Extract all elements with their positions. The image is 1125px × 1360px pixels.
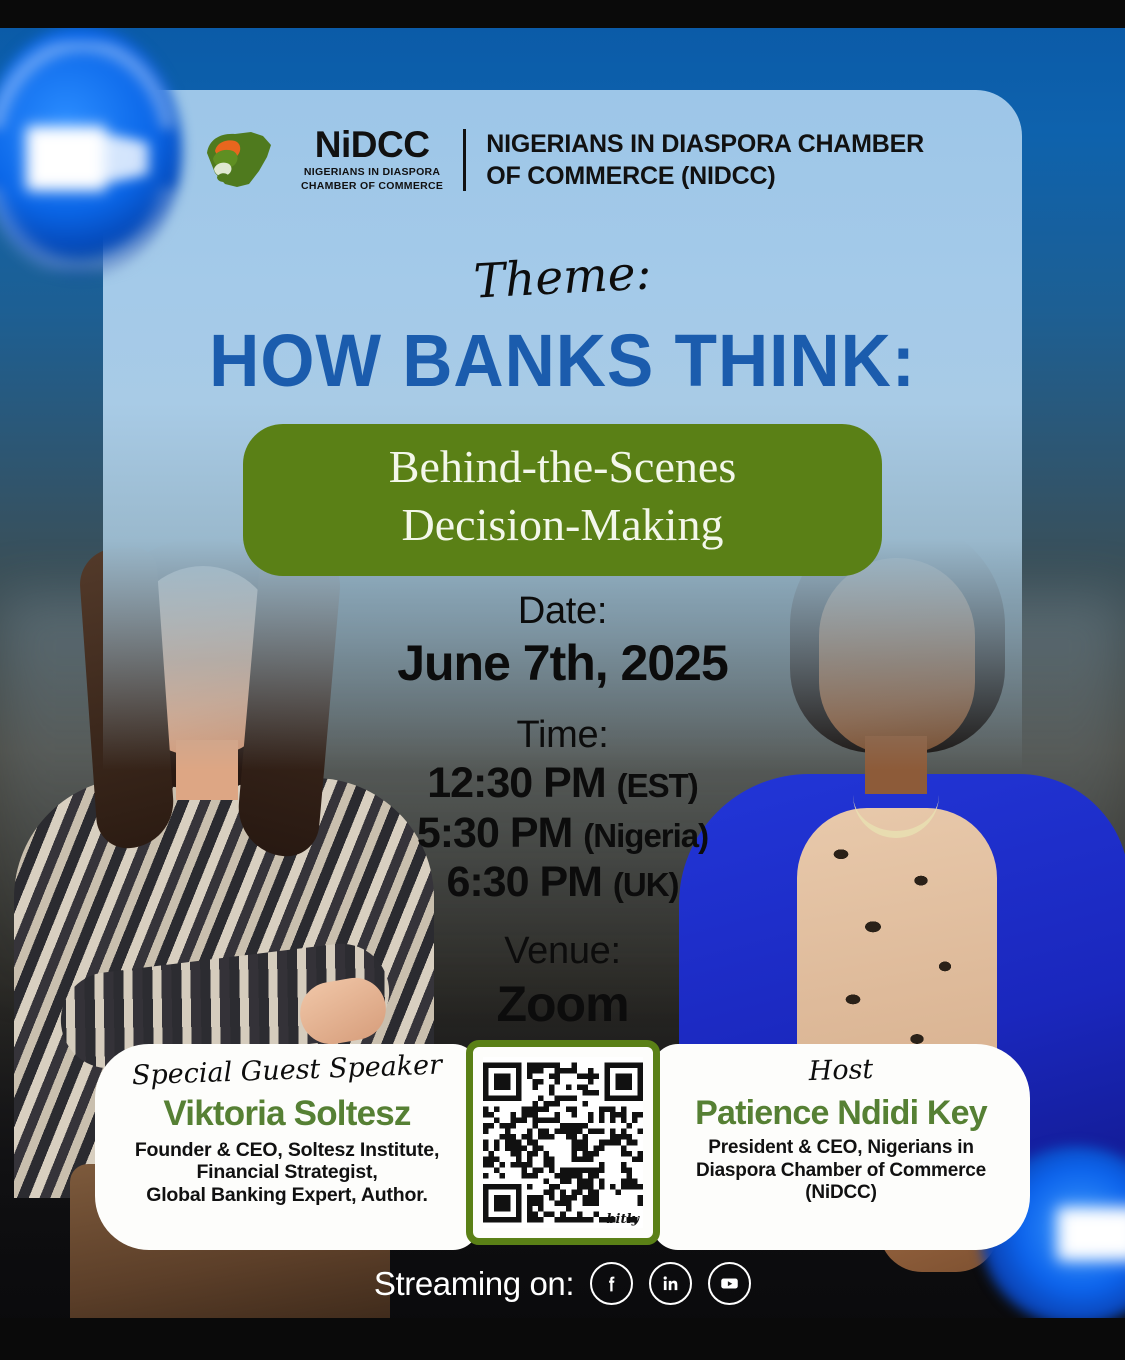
brand-wordmark: NiDCC NIGERIANS IN DIASPORA CHAMBER OF C… xyxy=(301,126,443,193)
speaker-card: Special Guest Speaker Viktoria Soltesz F… xyxy=(95,1044,479,1250)
linkedin-icon[interactable] xyxy=(649,1262,692,1305)
host-role-label: Host xyxy=(668,1050,1015,1092)
qr-watermark: bitly xyxy=(606,1212,639,1227)
theme-subtitle-pill: Behind-the-Scenes Decision-Making xyxy=(243,424,882,576)
streaming-footer: Streaming on: xyxy=(0,1262,1125,1305)
time-est: 12:30 PM (EST) xyxy=(0,759,1125,809)
date-value: June 7th, 2025 xyxy=(0,634,1125,692)
event-flyer: NiDCC NIGERIANS IN DIASPORA CHAMBER OF C… xyxy=(0,0,1125,1360)
brand-tagline: NIGERIANS IN DIASPORA CHAMBER OF COMMERC… xyxy=(301,166,443,193)
brand-header: NiDCC NIGERIANS IN DIASPORA CHAMBER OF C… xyxy=(0,126,1125,193)
facebook-icon[interactable] xyxy=(590,1262,633,1305)
brand-nidcc-text: NiDCC xyxy=(315,126,430,163)
host-credentials: President & CEO, Nigerians in Diaspora C… xyxy=(668,1137,1014,1203)
date-label: Date: xyxy=(0,588,1125,634)
streaming-label: Streaming on: xyxy=(374,1265,574,1303)
speaker-role-label: Special Guest Speaker xyxy=(113,1050,462,1092)
venue-value: Zoom xyxy=(0,975,1125,1033)
speaker-name: Viktoria Soltesz xyxy=(113,1093,461,1135)
event-details: Date: June 7th, 2025 Time: 12:30 PM (EST… xyxy=(0,588,1125,1093)
speaker-credentials: Founder & CEO, Soltesz Institute, Financ… xyxy=(113,1139,461,1207)
qr-code[interactable]: bitly xyxy=(466,1040,660,1245)
time-uk: 6:30 PM (UK) xyxy=(0,858,1125,908)
time-label: Time: xyxy=(0,712,1125,758)
nigeria-map-logo-icon xyxy=(201,127,281,193)
header-divider xyxy=(463,129,466,191)
theme-subtitle-line1: Behind-the-Scenes xyxy=(271,438,854,496)
header-title: NIGERIANS IN DIASPORA CHAMBER OF COMMERC… xyxy=(486,128,924,192)
host-card: Host Patience Ndidi Key President & CEO,… xyxy=(652,1044,1030,1250)
top-letterbox-bar xyxy=(0,0,1125,28)
host-name: Patience Ndidi Key xyxy=(668,1093,1014,1134)
theme-subtitle-line2: Decision-Making xyxy=(271,496,854,554)
time-nigeria: 5:30 PM (Nigeria) xyxy=(0,809,1125,859)
youtube-icon[interactable] xyxy=(708,1262,751,1305)
theme-headline: HOW BANKS THINK: xyxy=(34,325,1092,398)
bottom-letterbox-bar xyxy=(0,1318,1125,1360)
qr-canvas: bitly xyxy=(483,1057,643,1228)
venue-label: Venue: xyxy=(0,928,1125,974)
